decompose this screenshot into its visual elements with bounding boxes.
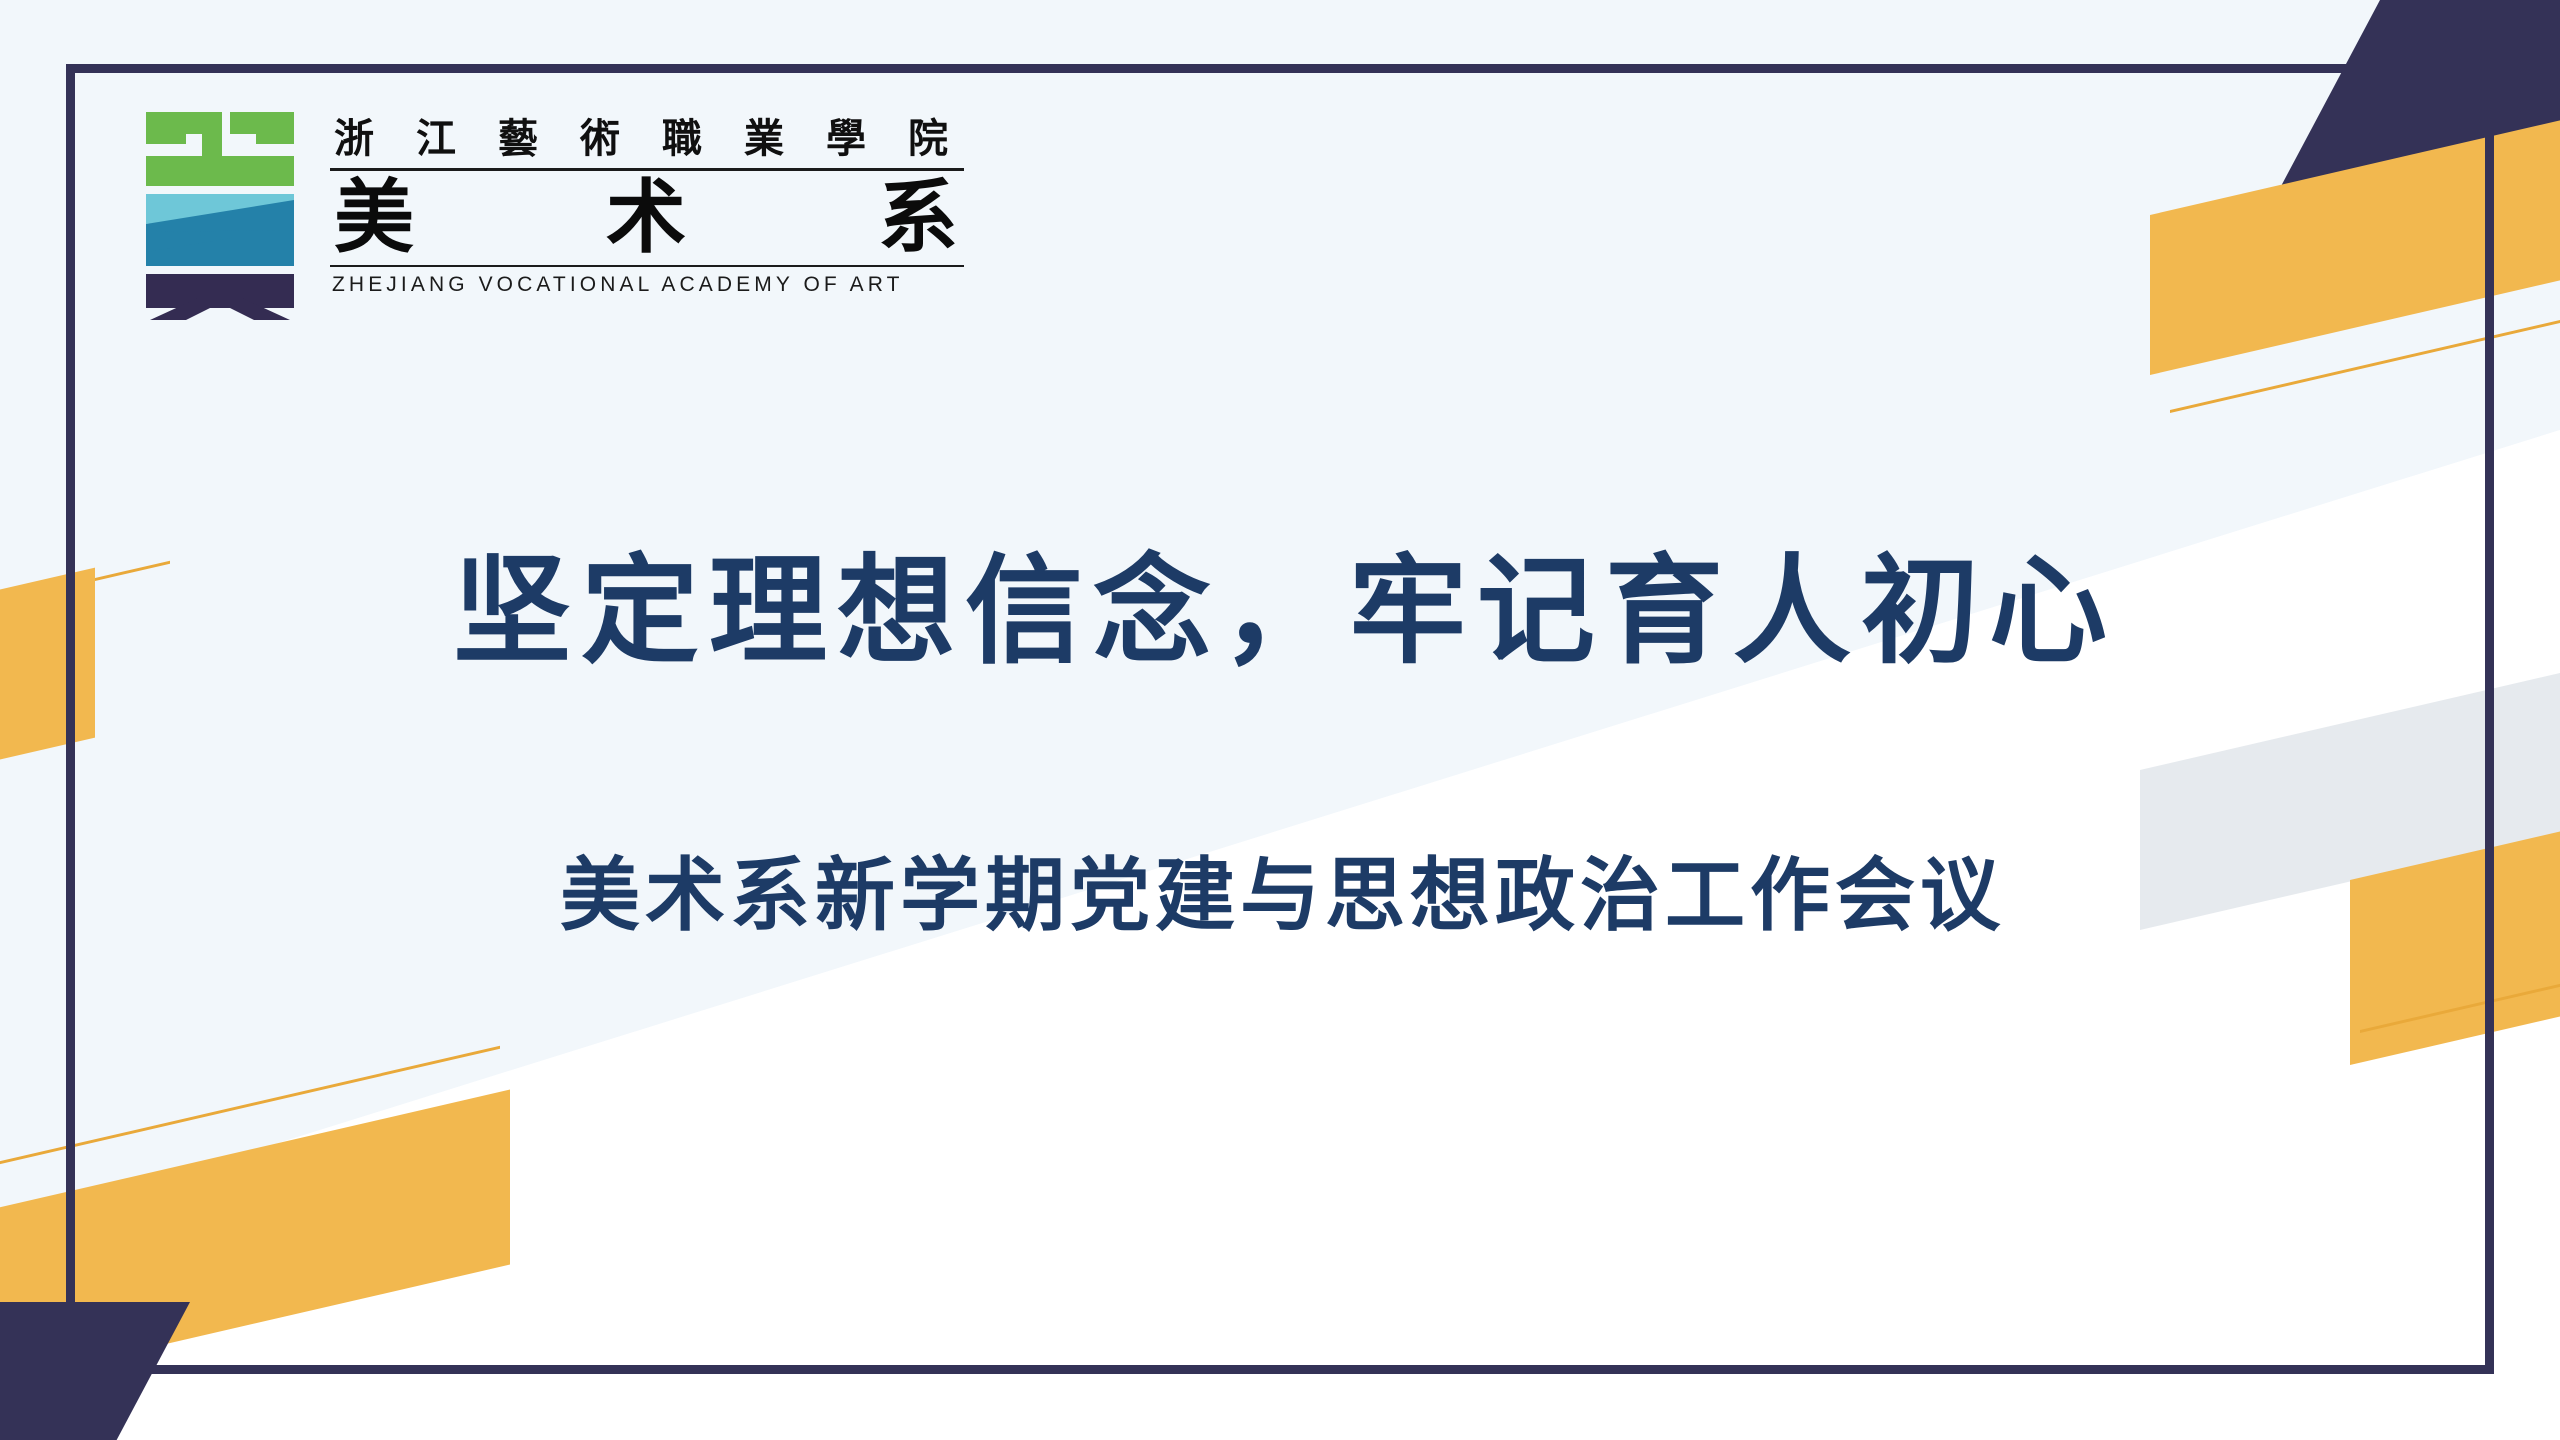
logo-divider-bottom [330,265,964,267]
institution-logo: 浙 江 藝 術 職 業 學 院 美 术 系 ZHEJIANG VOCATIONA… [146,112,964,320]
department-char-2: 术 [606,179,686,259]
logo-divider-top [330,168,964,171]
slide-canvas: 浙 江 藝 術 職 業 學 院 美 术 系 ZHEJIANG VOCATIONA… [0,0,2560,1440]
department-name-cn: 美 术 系 [330,175,964,261]
institution-name-cn: 浙 江 藝 術 職 業 學 院 [330,116,964,162]
department-char-1: 美 [334,179,414,259]
academy-emblem-icon [146,112,294,320]
logo-wordmark: 浙 江 藝 術 職 業 學 院 美 术 系 ZHEJIANG VOCATIONA… [330,112,964,297]
institution-name-en: ZHEJIANG VOCATIONAL ACADEMY OF ART [330,273,964,297]
department-char-3: 系 [878,179,958,259]
